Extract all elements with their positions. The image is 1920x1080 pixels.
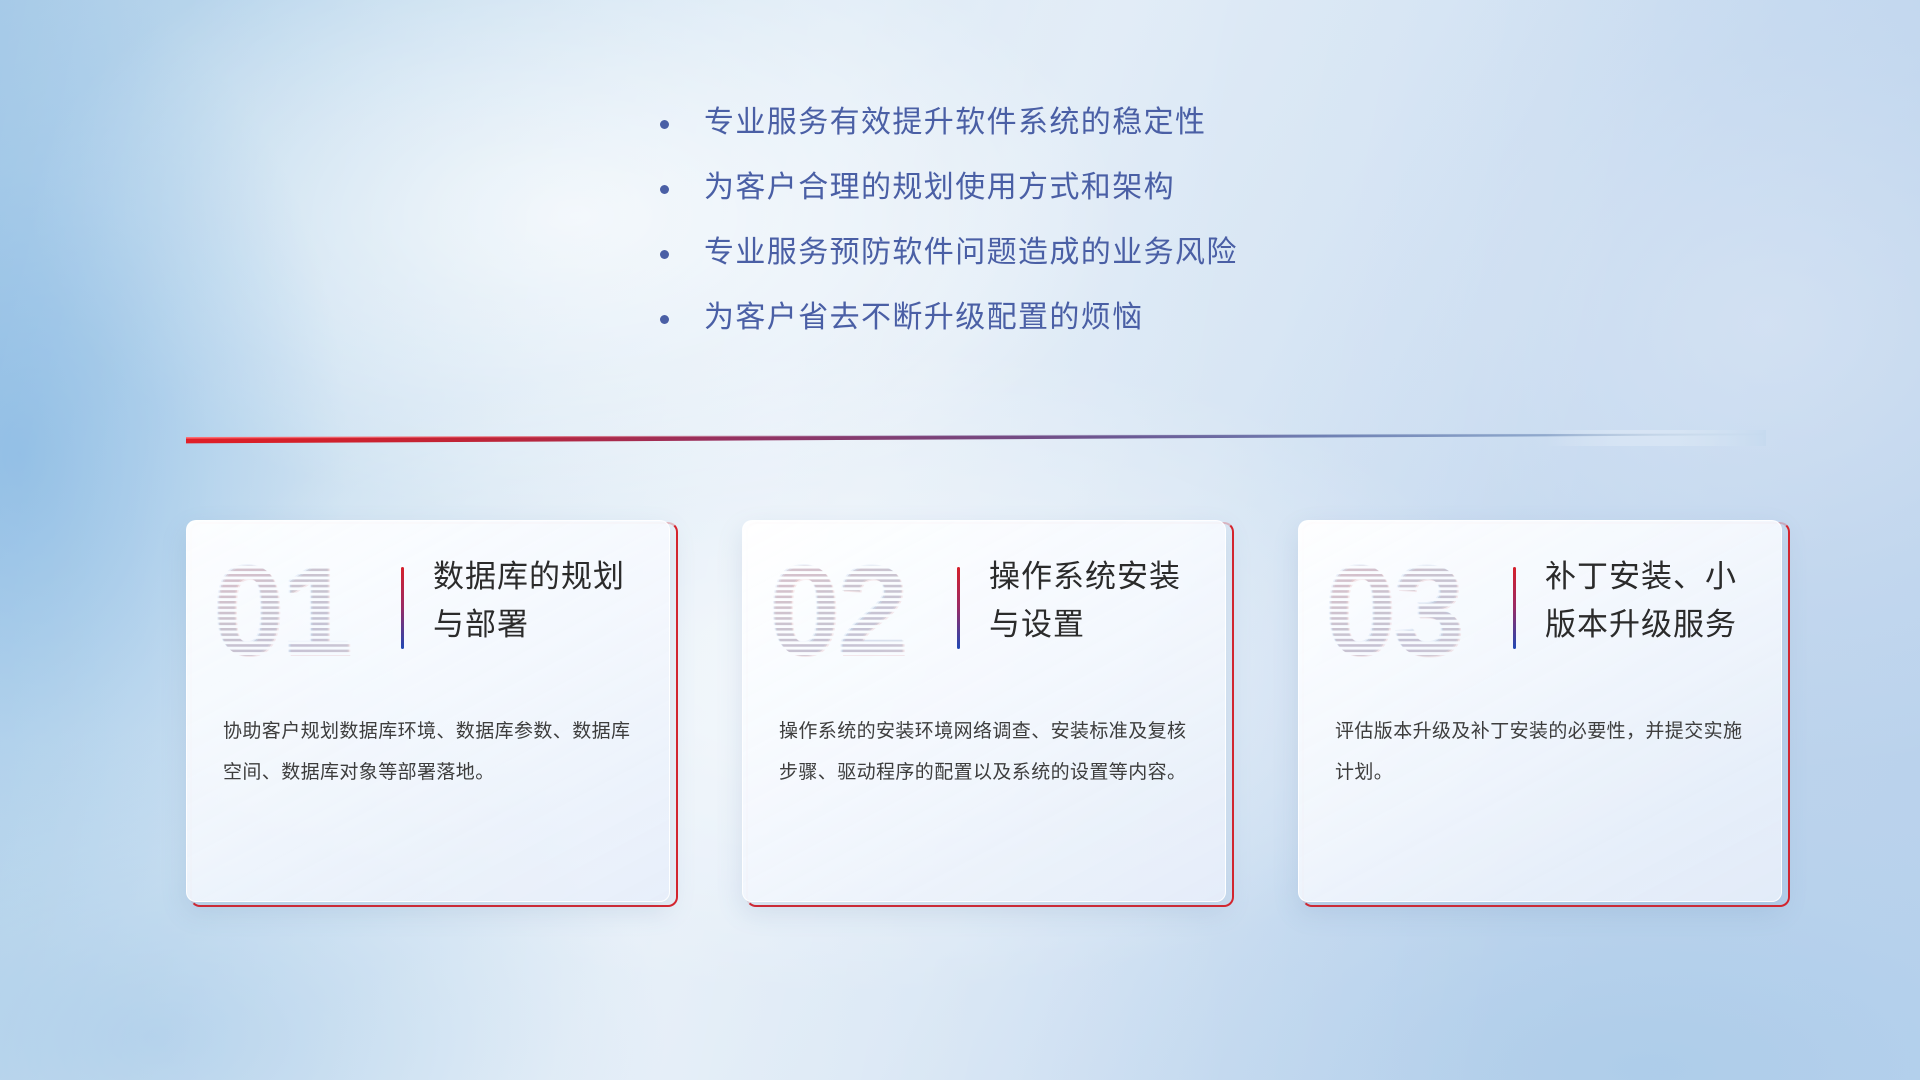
card-description: 协助客户规划数据库环境、数据库参数、数据库空间、数据库对象等部署落地。 — [223, 711, 637, 793]
bullet-point-icon — [660, 185, 669, 194]
card-divider-bar — [957, 567, 960, 649]
svg-text:02: 02 — [768, 547, 904, 673]
card-header: 02 02 02 操作系统安装与设置 — [743, 543, 1226, 681]
slide-canvas: 专业服务有效提升软件系统的稳定性 为客户合理的规划使用方式和架构 专业服务预防软… — [0, 0, 1920, 1080]
card-title: 补丁安装、小版本升级服务 — [1545, 553, 1759, 649]
card-number-graphic: 01 01 01 — [211, 547, 371, 673]
card-description: 评估版本升级及补丁安装的必要性，并提交实施计划。 — [1335, 711, 1749, 793]
card-title: 操作系统安装与设置 — [989, 553, 1203, 649]
card-surface: 03 03 03 补丁安装、小版本升级服务 评估版本升级及补丁安装的必要性，并提… — [1298, 520, 1782, 902]
benefits-bullet-list: 专业服务有效提升软件系统的稳定性 为客户合理的规划使用方式和架构 专业服务预防软… — [660, 100, 1400, 360]
bullet-label: 为客户合理的规划使用方式和架构 — [704, 165, 1175, 211]
bullet-point-icon — [660, 120, 669, 129]
service-card-row: 01 01 01 数据库的规划与部署 协助客户规划数据库环境、数据库参数、数据库… — [186, 520, 1786, 905]
bullet-point-icon — [660, 250, 669, 259]
service-card[interactable]: 02 02 02 操作系统安装与设置 操作系统的安装环境网络调查、安装标准及复核… — [742, 520, 1230, 905]
bullet-label: 为客户省去不断升级配置的烦恼 — [704, 295, 1144, 341]
card-surface: 01 01 01 数据库的规划与部署 协助客户规划数据库环境、数据库参数、数据库… — [186, 520, 670, 902]
card-header: 01 01 01 数据库的规划与部署 — [187, 543, 670, 681]
card-header: 03 03 03 补丁安装、小版本升级服务 — [1299, 543, 1782, 681]
card-divider-bar — [1513, 567, 1516, 649]
list-item: 专业服务有效提升软件系统的稳定性 — [660, 100, 1400, 165]
service-card[interactable]: 03 03 03 补丁安装、小版本升级服务 评估版本升级及补丁安装的必要性，并提… — [1298, 520, 1786, 905]
list-item: 为客户合理的规划使用方式和架构 — [660, 165, 1400, 230]
service-card[interactable]: 01 01 01 数据库的规划与部署 协助客户规划数据库环境、数据库参数、数据库… — [186, 520, 674, 905]
svg-text:01: 01 — [212, 547, 348, 673]
list-item: 为客户省去不断升级配置的烦恼 — [660, 295, 1400, 360]
card-number-graphic: 03 03 03 — [1323, 547, 1483, 673]
card-description: 操作系统的安装环境网络调查、安装标准及复核步骤、驱动程序的配置以及系统的设置等内… — [779, 711, 1193, 793]
card-title: 数据库的规划与部署 — [433, 553, 647, 649]
card-divider-bar — [401, 567, 404, 649]
card-surface: 02 02 02 操作系统安装与设置 操作系统的安装环境网络调查、安装标准及复核… — [742, 520, 1226, 902]
card-number-graphic: 02 02 02 — [767, 547, 927, 673]
bullet-point-icon — [660, 315, 669, 324]
bullet-label: 专业服务预防软件问题造成的业务风险 — [704, 230, 1238, 276]
svg-text:03: 03 — [1324, 547, 1460, 673]
list-item: 专业服务预防软件问题造成的业务风险 — [660, 230, 1400, 295]
bullet-label: 专业服务有效提升软件系统的稳定性 — [704, 100, 1206, 146]
